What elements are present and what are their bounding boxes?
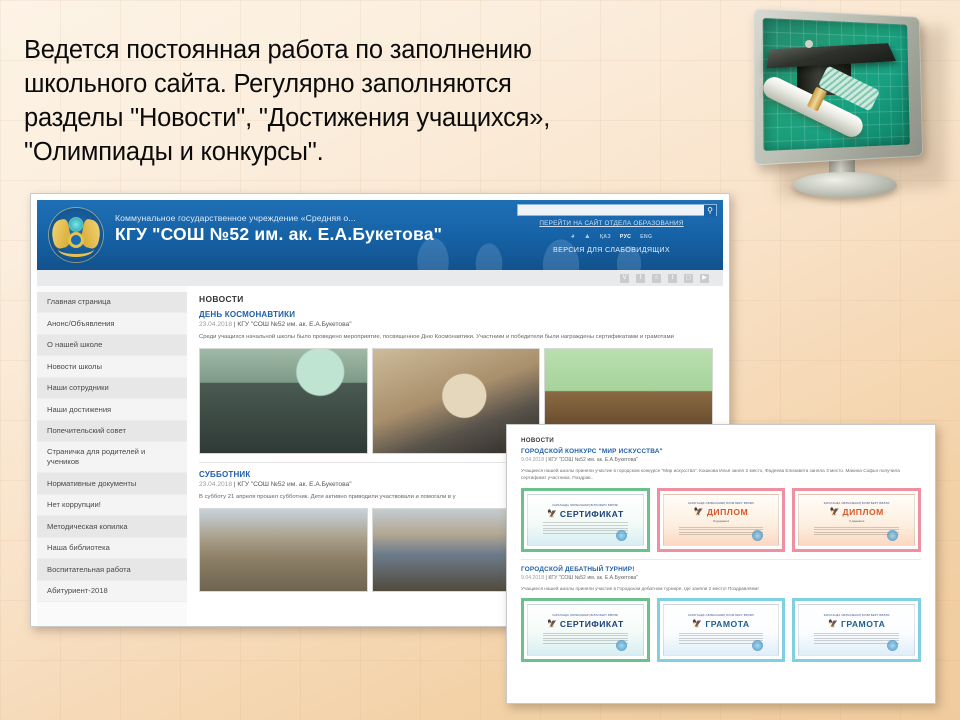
award-certificate[interactable]: КАРАГАНДА ОБЛЫСЫНЫҢ БІЛІМ БЕРУ БӨЛІМІ 🦅 … bbox=[521, 598, 650, 662]
award-type: СЕРТИФИКАТ bbox=[560, 509, 624, 519]
slide-title: Ведется постоянная работа по заполнению … bbox=[24, 34, 724, 170]
award-seal-icon bbox=[887, 530, 898, 541]
lang-kaz[interactable]: ҚАЗ bbox=[600, 234, 611, 240]
news-date: 23.04.2018 bbox=[199, 321, 232, 328]
sidebar-item-board-of-trustees[interactable]: Попечительский совет bbox=[37, 421, 187, 442]
award-seal-icon bbox=[752, 530, 763, 541]
eagle-icon: 🦅 bbox=[830, 508, 840, 516]
news-photo[interactable] bbox=[199, 348, 368, 454]
lang-rus[interactable]: РУС bbox=[620, 234, 631, 240]
eagle-icon: 🦅 bbox=[547, 620, 557, 628]
sidebar-item-anti-corruption[interactable]: Нет коррупции! bbox=[37, 495, 187, 516]
award-seal-icon bbox=[616, 530, 627, 541]
news-meta: 23.04.2018 | КГУ "СОШ №52 им. ак. Е.А.Бу… bbox=[199, 321, 713, 328]
award-certificate[interactable]: КАРАГАНДА ОБЛЫСЫНЫҢ БІЛІМ БЕРУ БӨЛІМІ 🦅 … bbox=[792, 488, 921, 552]
news-title[interactable]: ДЕНЬ КОСМОНАВТИКИ bbox=[199, 310, 713, 319]
award-certificate[interactable]: КАРАГАНДА ОБЛЫСЫНЫҢ БІЛІМ БЕРУ БӨЛІМІ 🦅 … bbox=[792, 598, 921, 662]
award-certificate[interactable]: КАРАГАНДА ОБЛЫСЫНЫҢ БІЛІМ БЕРУ БӨЛІМІ 🦅 … bbox=[657, 598, 786, 662]
award-certificate[interactable]: КАРАГАНДА ОБЛЫСЫНЫҢ БІЛІМ БЕРУ БӨЛІМІ 🦅 … bbox=[657, 488, 786, 552]
award-headline: 🦅 ДИПЛОМ bbox=[694, 507, 748, 517]
award-type: ГРАМОТА bbox=[705, 619, 749, 629]
sidebar-item-regulatory-docs[interactable]: Нормативные документы bbox=[37, 473, 187, 494]
news-source: КГУ "СОШ №52 им. ак. Е.А.Букетова" bbox=[237, 481, 351, 488]
header-icon-row: ◕ ▲ ҚАЗ РУС ENG bbox=[509, 233, 714, 240]
award-headline: 🦅 ГРАМОТА bbox=[828, 619, 885, 629]
eagle-icon: 🦅 bbox=[692, 620, 702, 628]
award-gallery: КАРАГАНДА ОБЛЫСЫНЫҢ БІЛІМ БЕРУ БӨЛІМІ 🦅 … bbox=[521, 598, 921, 662]
overlay-divider bbox=[521, 559, 921, 560]
sidebar-item-achievements[interactable]: Наши достижения bbox=[37, 399, 187, 420]
awards-page-content: НОВОСТИ ГОРОДСКОЙ КОНКУРС "МИР ИСКУССТВА… bbox=[512, 430, 930, 698]
award-type: ГРАМОТА bbox=[841, 619, 885, 629]
award-body-lines bbox=[814, 525, 899, 537]
overlay-news-heading: НОВОСТИ bbox=[521, 437, 921, 444]
site-subtitle: Коммунальное государственное учреждение … bbox=[115, 213, 442, 223]
overlay-news-body: Учащиеся нашей школы приняли участие в Г… bbox=[521, 585, 921, 592]
award-certificate[interactable]: КАРАГАНДА ОБЛЫСЫНЫҢ БІЛІМ БЕРУ БӨЛІМІ 🦅 … bbox=[521, 488, 650, 552]
award-type: ДИПЛОМ bbox=[842, 507, 883, 517]
sidebar-item-school-news[interactable]: Новости школы bbox=[37, 356, 187, 377]
overlay-news-title[interactable]: ГОРОДСКОЙ ДЕБАТНЫЙ ТУРНИР! bbox=[521, 566, 921, 573]
overlay-news-source: КГУ "СОШ №52 им. ак. Е.А.Букетова" bbox=[548, 457, 638, 463]
overlay-news-meta: 9.04.2018 | КГУ "СОШ №52 им. ак. Е.А.Бук… bbox=[521, 457, 921, 463]
low-vision-version-link[interactable]: ВЕРСИЯ ДЛЯ СЛАБОВИДЯЩИХ bbox=[509, 245, 714, 254]
news-section-heading: НОВОСТИ bbox=[199, 294, 713, 304]
rss-icon[interactable]: ◕ bbox=[571, 233, 575, 240]
monitor-base bbox=[793, 172, 897, 198]
graduation-cap-tassel-icon bbox=[805, 40, 813, 48]
social-links-bar: V f ☆ t ◻ ▶ bbox=[37, 270, 723, 286]
award-body-lines bbox=[679, 525, 764, 537]
site-title: КГУ "СОШ №52 им. ак. Е.А.Букетова" bbox=[115, 224, 442, 245]
site-sidebar-menu: Главная страница Анонс/Объявления О наше… bbox=[37, 286, 187, 627]
vk-icon[interactable]: V bbox=[620, 274, 629, 283]
sidebar-item-announcements[interactable]: Анонс/Объявления bbox=[37, 313, 187, 334]
news-date: 23.04.2018 bbox=[199, 481, 232, 488]
award-body-lines bbox=[543, 631, 628, 646]
overlay-news-date: 9.04.2018 bbox=[521, 457, 544, 463]
award-seal-icon bbox=[616, 640, 627, 651]
sidebar-item-home[interactable]: Главная страница bbox=[37, 292, 187, 313]
eagle-icon: 🦅 bbox=[694, 508, 704, 516]
overlay-news-date: 9.04.2018 bbox=[521, 575, 544, 581]
sidebar-item-applicant-2018[interactable]: Абитуриент-2018 bbox=[37, 581, 187, 602]
eagle-icon: 🦅 bbox=[547, 510, 557, 518]
title-line-3: разделы "Новости", "Достижения учащихся»… bbox=[24, 102, 724, 136]
award-inner-frame bbox=[798, 604, 915, 656]
awards-page-screenshot: НОВОСТИ ГОРОДСКОЙ КОНКУРС "МИР ИСКУССТВА… bbox=[506, 424, 936, 704]
news-source: КГУ "СОШ №52 им. ак. Е.А.Букетова" bbox=[237, 321, 351, 328]
award-headline: 🦅 СЕРТИФИКАТ bbox=[547, 509, 624, 519]
accessibility-icon[interactable]: ▲ bbox=[584, 233, 591, 240]
award-type: ДИПЛОМ bbox=[707, 507, 748, 517]
title-line-1: Ведется постоянная работа по заполнению bbox=[24, 34, 724, 68]
award-gallery: КАРАГАНДА ОБЛЫСЫНЫҢ БІЛІМ БЕРУ БӨЛІМІ 🦅 … bbox=[521, 488, 921, 552]
youtube-icon[interactable]: ▶ bbox=[700, 274, 709, 283]
award-headline: 🦅 СЕРТИФИКАТ bbox=[547, 619, 624, 629]
eagle-icon: 🦅 bbox=[828, 620, 838, 628]
overlay-news-body: Учащиеся нашей школы приняли участие в г… bbox=[521, 467, 921, 482]
title-line-2: школьного сайта. Регулярно заполняются bbox=[24, 68, 724, 102]
title-line-4: "Олимпиады и конкурсы". bbox=[24, 136, 724, 170]
award-header-text: КАРАГАНДА ОБЛЫСЫНЫҢ БІЛІМ БЕРУ БӨЛІМІ bbox=[688, 614, 754, 617]
site-branding: Коммунальное государственное учреждение … bbox=[115, 213, 442, 245]
header-utilities: ПЕРЕЙТИ НА САЙТ ОТДЕЛА ОБРАЗОВАНИЯ ◕ ▲ Қ… bbox=[509, 220, 714, 254]
twitter-icon[interactable]: t bbox=[668, 274, 677, 283]
award-headline: 🦅 ДИПЛОМ bbox=[830, 507, 884, 517]
monitor-graduation-illustration bbox=[745, 4, 957, 204]
search-input[interactable]: ⚲ bbox=[517, 204, 717, 216]
lang-eng[interactable]: ENG bbox=[640, 234, 652, 240]
award-header-text: КАРАГАНДА ОБЛЫСЫНЫҢ БІЛІМ БЕРУ БӨЛІМІ bbox=[552, 504, 618, 507]
award-headline: 🦅 ГРАМОТА bbox=[692, 619, 749, 629]
award-body-lines bbox=[543, 521, 628, 536]
award-type: СЕРТИФИКАТ bbox=[560, 619, 624, 629]
edu-department-link[interactable]: ПЕРЕЙТИ НА САЙТ ОТДЕЛА ОБРАЗОВАНИЯ bbox=[509, 220, 714, 227]
overlay-news-source: КГУ "СОШ №52 им. ак. Е.А.Букетова" bbox=[548, 575, 638, 581]
sidebar-item-parents-students[interactable]: Страничка для родителей и учеников bbox=[37, 442, 187, 473]
award-body-lines bbox=[679, 631, 764, 646]
kazakhstan-emblem-icon bbox=[49, 208, 103, 262]
award-header-text: КАРАГАНДА ОБЛЫСЫНЫҢ БІЛІМ БЕРУ БӨЛІМІ bbox=[688, 502, 754, 505]
sidebar-item-methodical[interactable]: Методическая копилка bbox=[37, 516, 187, 537]
overlay-news-meta: 9.04.2018 | КГУ "СОШ №52 им. ак. Е.А.Бук… bbox=[521, 575, 921, 581]
award-header-text: КАРАГАНДА ОБЛЫСЫНЫҢ БІЛІМ БЕРУ БӨЛІМІ bbox=[552, 614, 618, 617]
search-icon[interactable]: ⚲ bbox=[704, 205, 716, 217]
instagram-icon[interactable]: ◻ bbox=[684, 274, 693, 283]
news-body: Среди учащихся начальной школы было пров… bbox=[199, 333, 713, 342]
site-header: ⚲ Коммунальное государственное учреждени… bbox=[37, 200, 723, 270]
news-photo[interactable] bbox=[199, 508, 368, 592]
sidebar-item-about-school[interactable]: О нашей школе bbox=[37, 335, 187, 356]
award-header-text: КАРАГАНДА ОБЛЫСЫНЫҢ БІЛІМ БЕРУ БӨЛІМІ bbox=[824, 502, 890, 505]
sidebar-item-library[interactable]: Наша библиотека bbox=[37, 538, 187, 559]
overlay-news-title[interactable]: ГОРОДСКОЙ КОНКУРС "МИР ИСКУССТВА" bbox=[521, 448, 921, 455]
award-header-text: КАРАГАНДА ОБЛЫСЫНЫҢ БІЛІМ БЕРУ БӨЛІМІ bbox=[824, 614, 890, 617]
emblem-arc bbox=[58, 241, 94, 257]
sidebar-item-staff[interactable]: Наши сотрудники bbox=[37, 378, 187, 399]
facebook-icon[interactable]: f bbox=[636, 274, 645, 283]
odnoklassniki-icon[interactable]: ☆ bbox=[652, 274, 661, 283]
award-degree: II дәрежелі bbox=[849, 519, 864, 523]
award-body-lines bbox=[814, 631, 899, 646]
sidebar-item-upbringing[interactable]: Воспитательная работа bbox=[37, 559, 187, 580]
award-degree: III дәрежелі bbox=[713, 519, 729, 523]
award-seal-icon bbox=[752, 640, 763, 651]
emblem-sun bbox=[69, 217, 84, 232]
